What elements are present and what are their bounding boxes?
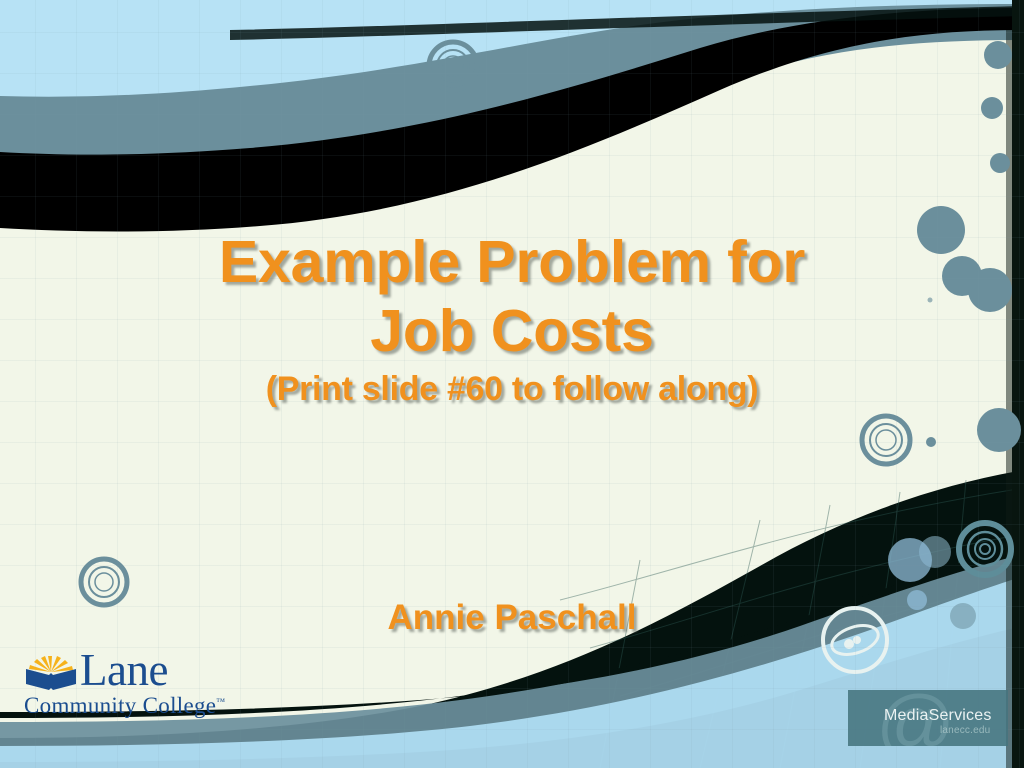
presentation-slide: #a9dcf2 0 — [0, 0, 1024, 768]
logo-wordmark: Lane — [80, 649, 168, 692]
open-book-sunburst-icon — [24, 652, 78, 692]
slide-author: Annie Paschall — [0, 598, 1024, 638]
title-line-1: Example Problem for — [0, 228, 1024, 297]
logo-tagline: Community College™ — [24, 693, 219, 719]
logo-tagline-text: Community College — [24, 693, 216, 718]
slide-title-block: Example Problem for Job Costs (Print sli… — [0, 228, 1024, 409]
slide-subtitle: (Print slide #60 to follow along) — [0, 370, 1024, 409]
title-line-2: Job Costs — [0, 297, 1024, 366]
media-services-badge: @ MediaServices lanecc.edu — [848, 690, 1008, 746]
media-services-url: lanecc.edu — [940, 725, 990, 736]
media-services-title: MediaServices — [884, 707, 992, 725]
lane-community-college-logo: Lane Community College™ — [24, 648, 219, 719]
logo-trademark: ™ — [216, 696, 225, 706]
